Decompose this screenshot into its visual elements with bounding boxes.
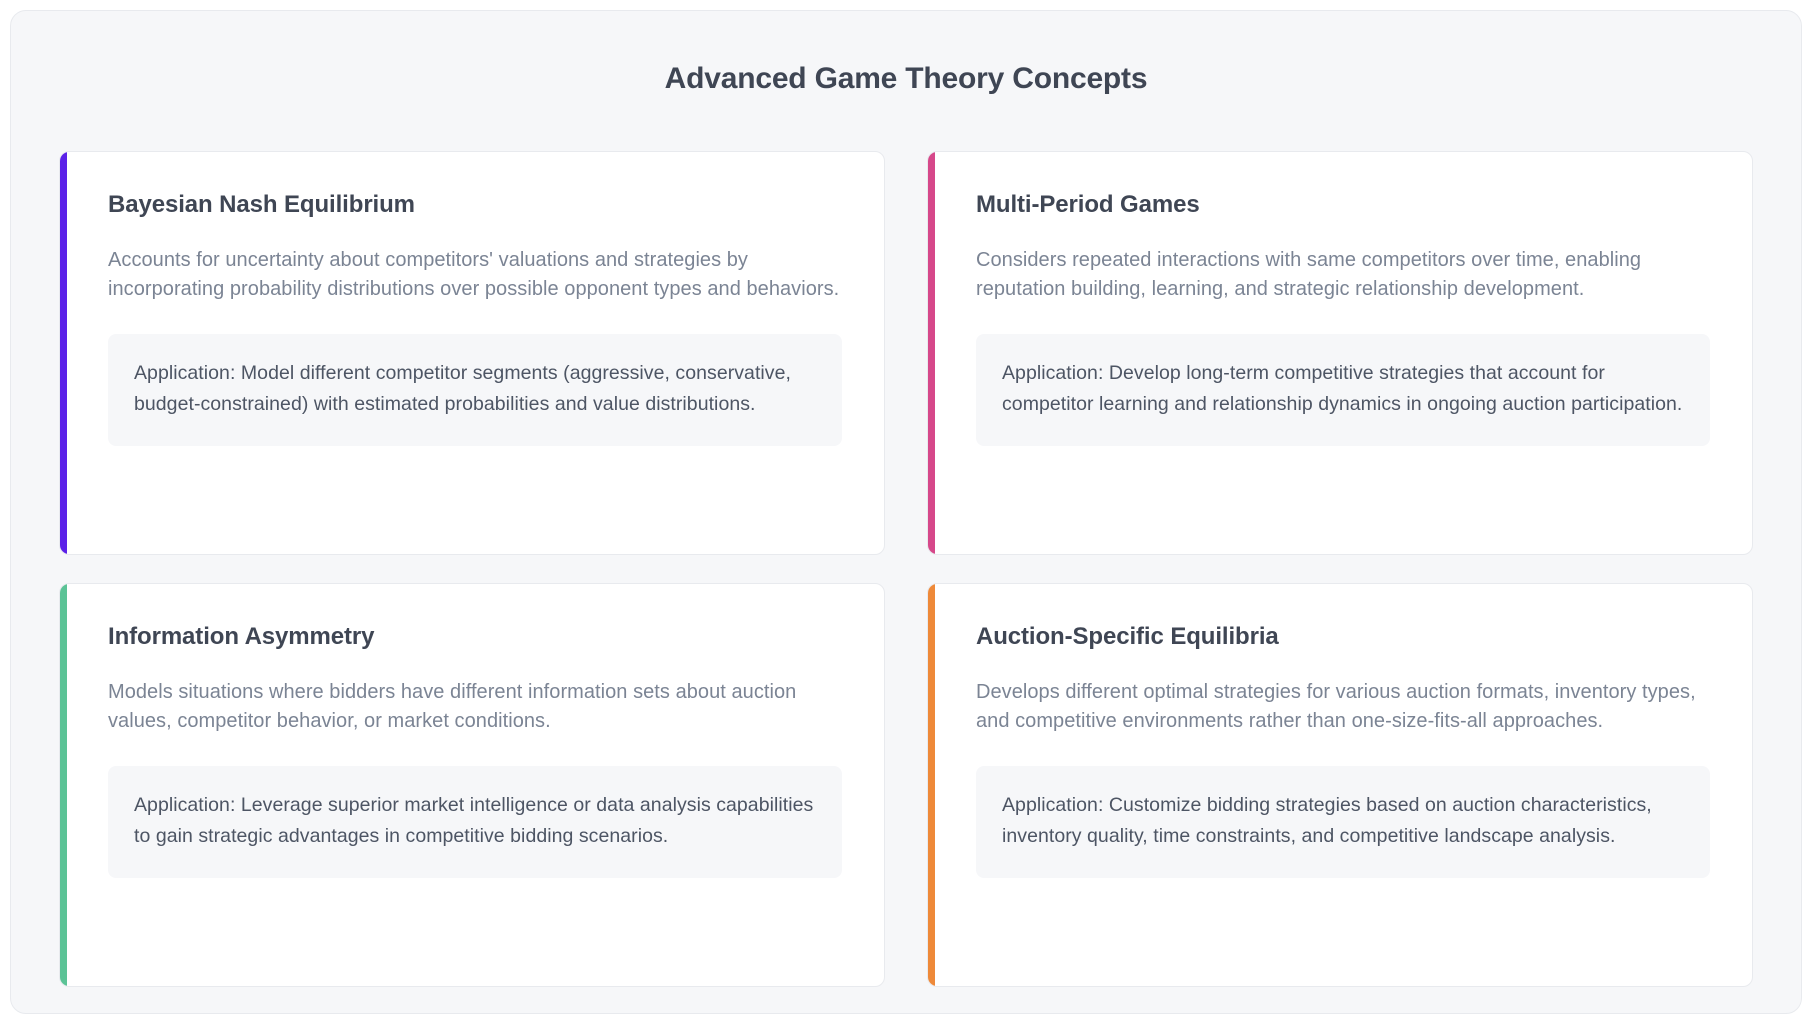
card-title: Bayesian Nash Equilibrium: [108, 190, 842, 220]
concept-card-multi-period-games[interactable]: Multi-Period Games Considers repeated in…: [927, 151, 1753, 555]
concept-card-information-asymmetry[interactable]: Information Asymmetry Models situations …: [59, 583, 885, 987]
card-description: Accounts for uncertainty about competito…: [108, 246, 842, 304]
card-description: Models situations where bidders have dif…: [108, 678, 842, 736]
card-description: Considers repeated interactions with sam…: [976, 246, 1710, 304]
card-application-note: Application: Leverage superior market in…: [108, 766, 842, 878]
card-title: Multi-Period Games: [976, 190, 1710, 220]
card-application-note: Application: Model different competitor …: [108, 334, 842, 446]
card-accent-bar: [928, 584, 935, 986]
concept-card-auction-specific-equilibria[interactable]: Auction-Specific Equilibria Develops dif…: [927, 583, 1753, 987]
card-title: Information Asymmetry: [108, 622, 842, 652]
card-description: Develops different optimal strategies fo…: [976, 678, 1710, 736]
concept-card-grid: Bayesian Nash Equilibrium Accounts for u…: [11, 97, 1801, 987]
card-accent-bar: [60, 152, 67, 554]
card-application-note: Application: Develop long-term competiti…: [976, 334, 1710, 446]
card-application-note: Application: Customize bidding strategie…: [976, 766, 1710, 878]
page-title: Advanced Game Theory Concepts: [11, 11, 1801, 97]
concepts-panel: Advanced Game Theory Concepts Bayesian N…: [10, 10, 1802, 1014]
concept-card-bayesian-nash-equilibrium[interactable]: Bayesian Nash Equilibrium Accounts for u…: [59, 151, 885, 555]
card-accent-bar: [928, 152, 935, 554]
card-title: Auction-Specific Equilibria: [976, 622, 1710, 652]
card-accent-bar: [60, 584, 67, 986]
